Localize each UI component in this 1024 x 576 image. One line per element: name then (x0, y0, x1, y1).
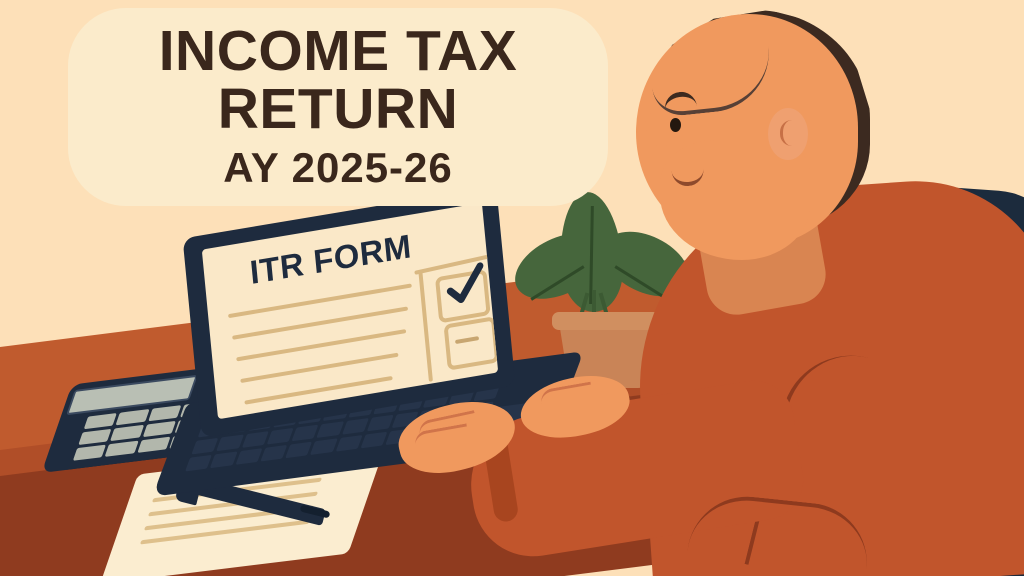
keyboard-key (342, 417, 369, 434)
checkmark-icon (440, 259, 490, 312)
keyboard-key (191, 437, 218, 454)
illustration-canvas: potted plant seated in profile facing le… (0, 0, 1024, 576)
person-eye (670, 118, 681, 132)
keyboard-key (267, 427, 294, 444)
calculator-key (110, 425, 143, 441)
person-nose (645, 111, 673, 147)
calculator-key (142, 421, 175, 437)
itr-form-title: ITR FORM (248, 227, 413, 292)
headline-line-1: INCOME TAX (159, 24, 518, 80)
headline-line-3: AY 2025-26 (223, 146, 453, 190)
calculator-key (116, 409, 149, 425)
headline-line-2: RETURN (218, 82, 459, 138)
keyboard-key (367, 414, 394, 431)
form-checkbox-empty[interactable] (444, 316, 499, 370)
keyboard-key (317, 421, 344, 438)
keyboard-key (242, 431, 269, 448)
headline-block: INCOME TAX RETURN AY 2025-26 (68, 8, 608, 206)
calculator-key (78, 429, 111, 445)
calculator-key (84, 413, 117, 429)
keyboard-key (292, 424, 319, 441)
form-divider-vertical (418, 270, 433, 382)
calculator-key (148, 405, 181, 421)
keyboard-key (216, 434, 243, 451)
person-ear-inner-line (780, 120, 797, 146)
